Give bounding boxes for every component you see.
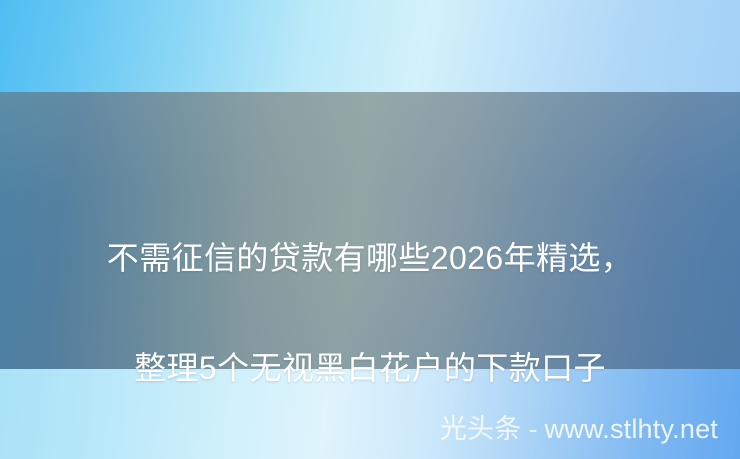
watermark-separator: - [528,416,537,443]
cover-image-canvas: 不需征信的贷款有哪些2026年精选， 整理5个无视黑白花户的下款口子 光头条 -… [0,0,740,459]
headline-line-1: 不需征信的贷款有哪些2026年精选， [0,231,740,286]
watermark-brand: 光头条 [440,416,522,443]
headline-line-2: 整理5个无视黑白花户的下款口子 [0,341,740,396]
headline-text: 不需征信的贷款有哪些2026年精选， 整理5个无视黑白花户的下款口子 [0,176,740,451]
background-band-top [0,0,740,92]
watermark: 光头条 - www.stlhty.net [440,416,718,443]
watermark-site-url: www.stlhty.net [545,416,718,443]
